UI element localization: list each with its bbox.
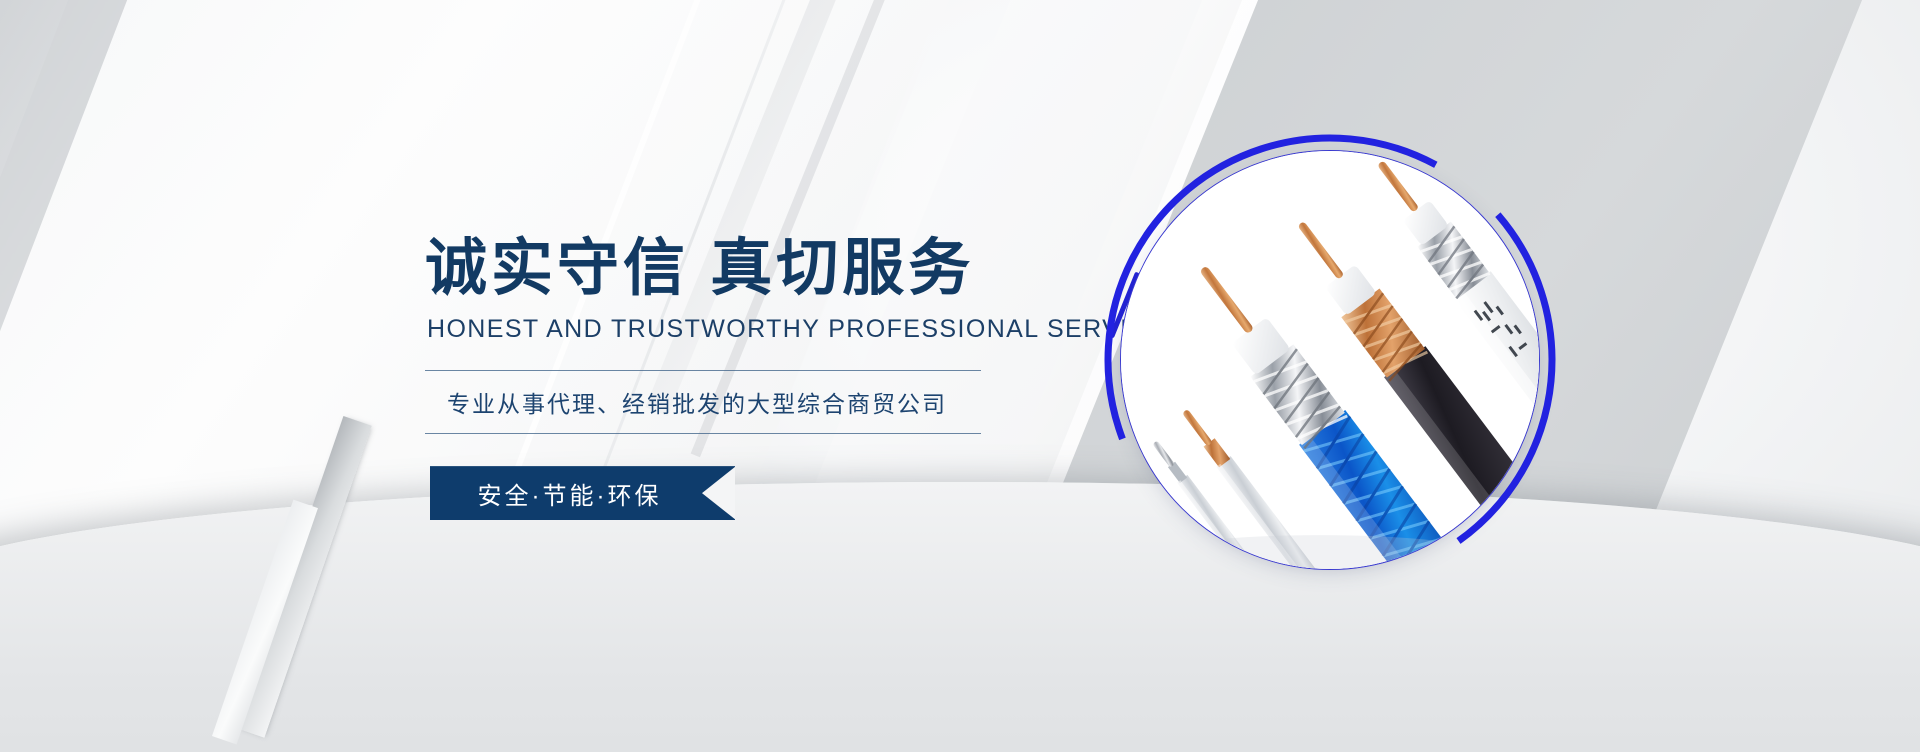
subtitle-rule-group: 专业从事代理、经销批发的大型综合商贸公司 (425, 370, 981, 434)
subtitle-english: HONEST AND TRUSTWORTHY PROFESSIONAL SERV… (427, 315, 1065, 344)
subtitle-chinese: 专业从事代理、经销批发的大型综合商贸公司 (425, 371, 981, 433)
chevron-left-icon (702, 466, 736, 520)
coaxial-cable-product-photo (1120, 150, 1540, 570)
banner-text-block: 诚实守信 真切服务 HONEST AND TRUSTWORTHY PROFESS… (425, 236, 1065, 520)
divider-top (425, 370, 981, 371)
status-badge: 安全·节能·环保 (430, 466, 735, 520)
hero-banner: 诚实守信 真切服务 HONEST AND TRUSTWORTHY PROFESS… (0, 0, 1920, 752)
product-photo-circle (1120, 150, 1540, 570)
status-badge-label: 安全·节能·环保 (478, 476, 688, 511)
cable-illustration (1121, 151, 1539, 569)
page-title: 诚实守信 真切服务 (425, 236, 1065, 301)
divider-bottom (425, 433, 981, 434)
